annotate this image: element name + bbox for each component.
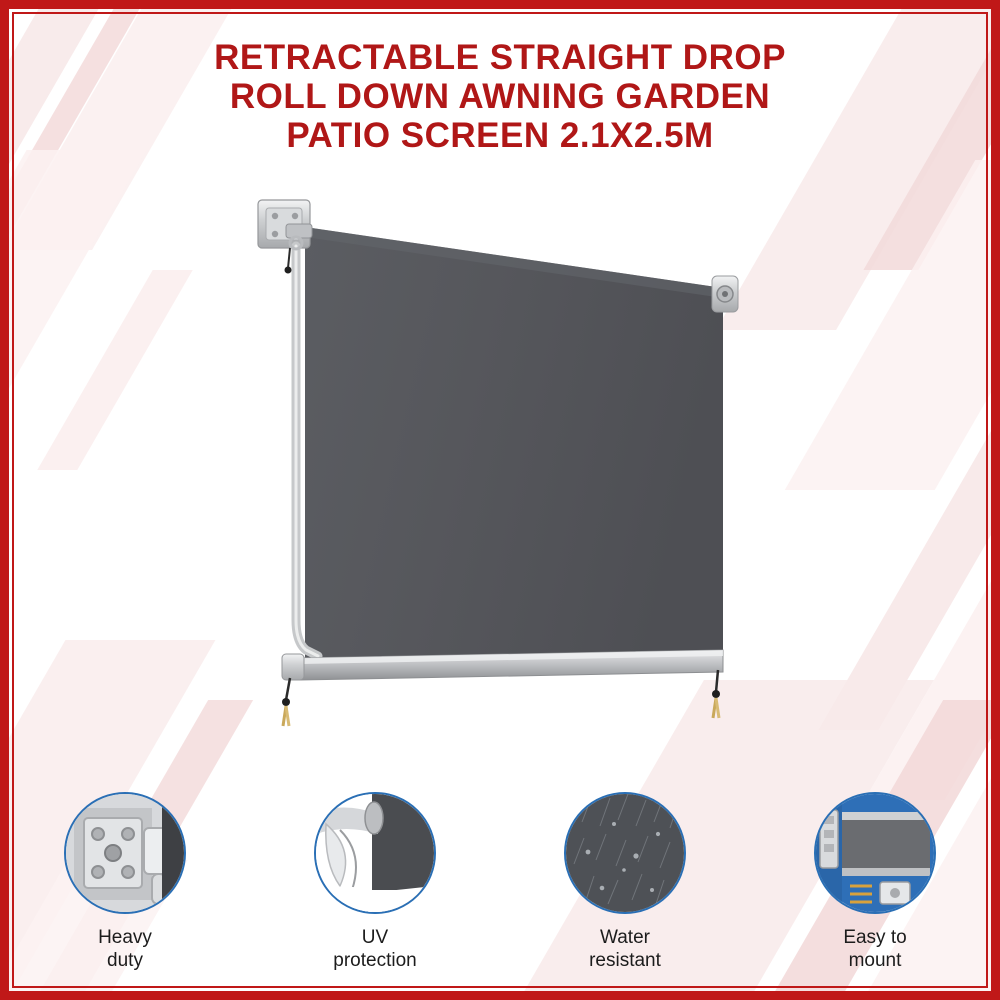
awning-illustration [0,180,1000,740]
title-line-3: PATIO SCREEN 2.1X2.5M [60,116,940,155]
feature-label-line-2: duty [98,949,152,972]
right-roller-bracket [712,276,738,312]
feature-item-heavy-duty: Heavy duty [0,792,250,972]
title-line-1: RETRACTABLE STRAIGHT DROP [60,38,940,77]
left-top-cord [285,248,292,274]
right-bottom-cord [712,670,720,718]
water-droplets-fabric-icon [564,792,686,914]
feature-label: UV protection [333,926,416,972]
product-hero-image [0,180,1000,740]
feature-list: Heavy duty UV protection [0,792,1000,972]
feature-item-water-resistant: Water resistant [500,792,750,972]
left-mounting-bracket [258,200,312,248]
feature-label-line-1: UV [333,926,416,949]
feature-label: Heavy duty [98,926,152,972]
page-title: RETRACTABLE STRAIGHT DROP ROLL DOWN AWNI… [0,38,1000,155]
feature-label-line-2: protection [333,949,416,972]
feature-label-line-1: Water [589,926,661,949]
feature-label-line-1: Heavy [98,926,152,949]
left-bottom-endcap [282,654,304,726]
awning-fabric [305,227,723,680]
bracket-hardware-icon [64,792,186,914]
product-banner: RETRACTABLE STRAIGHT DROP ROLL DOWN AWNI… [0,0,1000,1000]
feature-label-line-2: mount [843,949,906,972]
feature-item-uv-protection: UV protection [250,792,500,972]
feature-label-line-2: resistant [589,949,661,972]
mounting-kit-icon [814,792,936,914]
feature-label-line-1: Easy to [843,926,906,949]
feature-label: Easy to mount [843,926,906,972]
feature-item-easy-to-mount: Easy to mount [750,792,1000,972]
feature-label: Water resistant [589,926,661,972]
title-line-2: ROLL DOWN AWNING GARDEN [60,77,940,116]
uv-fabric-roll-icon [314,792,436,914]
